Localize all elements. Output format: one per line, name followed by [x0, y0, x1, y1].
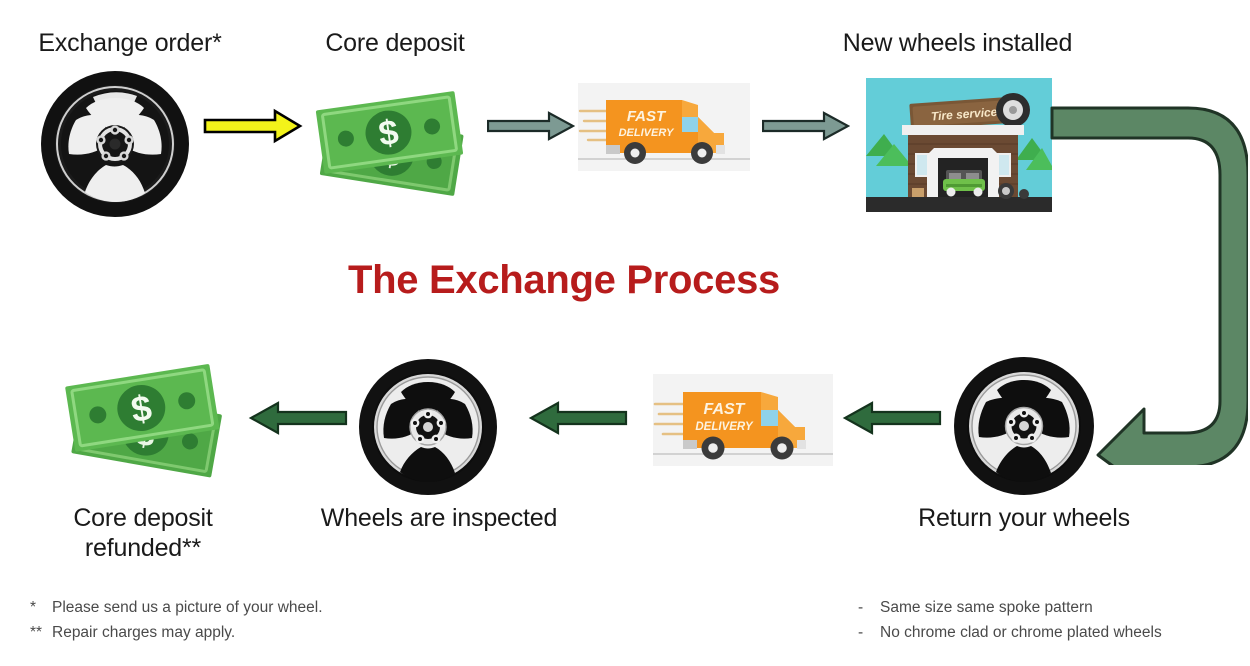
footnotes-left: *Please send us a picture of your wheel.… — [30, 595, 323, 645]
footnote-left-2: **Repair charges may apply. — [30, 620, 323, 645]
bullet-marker: - — [858, 595, 880, 620]
footnote-marker: ** — [30, 620, 52, 645]
silver-alloy-wheel-icon-return — [953, 356, 1095, 496]
bullet-marker: - — [858, 620, 880, 645]
slate-arrow-right-1 — [487, 110, 575, 142]
svg-text:FAST: FAST — [704, 401, 746, 418]
tire-service-shop-icon: Tire service — [866, 78, 1052, 212]
footnote-text: Same size same spoke pattern — [880, 599, 1093, 616]
footnote-text: Please send us a picture of your wheel. — [52, 599, 323, 616]
footnote-right-2: -No chrome clad or chrome plated wheels — [858, 620, 1162, 645]
dollar-bills-icon-refund: $ $ — [58, 352, 238, 487]
step-label-new-wheels-installed: New wheels installed — [820, 28, 1095, 58]
svg-text:DELIVERY: DELIVERY — [695, 421, 754, 433]
svg-text:DELIVERY: DELIVERY — [619, 127, 675, 139]
step-label-core-deposit-refunded: Core deposit refunded** — [28, 503, 258, 563]
step-label-core-deposit: Core deposit — [275, 28, 515, 58]
yellow-arrow-right — [203, 108, 303, 144]
footnote-text: No chrome clad or chrome plated wheels — [880, 624, 1162, 641]
green-arrow-left-3 — [842, 400, 942, 436]
exchange-process-diagram: Exchange order* Core deposit New wheels … — [0, 0, 1250, 666]
footnotes-right: -Same size same spoke pattern -No chrome… — [858, 595, 1162, 645]
fast-delivery-truck-icon-bottom: FAST DELIVERY — [653, 374, 833, 466]
footnote-text: Repair charges may apply. — [52, 624, 235, 641]
black-alloy-wheel-icon — [40, 70, 190, 218]
silver-alloy-wheel-icon-inspected — [358, 358, 498, 496]
green-arrow-left-1 — [248, 400, 348, 436]
footnote-right-1: -Same size same spoke pattern — [858, 595, 1162, 620]
page-title: The Exchange Process — [348, 258, 780, 303]
footnote-left-1: *Please send us a picture of your wheel. — [30, 595, 323, 620]
green-arrow-left-2 — [528, 400, 628, 436]
footnote-marker: * — [30, 595, 52, 620]
svg-text:FAST: FAST — [627, 108, 667, 125]
fast-delivery-truck-icon-top: FAST DELIVERY — [578, 83, 750, 171]
step-label-wheels-are-inspected: Wheels are inspected — [300, 503, 578, 533]
dollar-bills-icon: $ $ — [308, 78, 478, 206]
step-label-return-your-wheels: Return your wheels — [890, 503, 1158, 533]
step-label-exchange-order: Exchange order* — [0, 28, 260, 58]
slate-arrow-right-2 — [762, 110, 850, 142]
